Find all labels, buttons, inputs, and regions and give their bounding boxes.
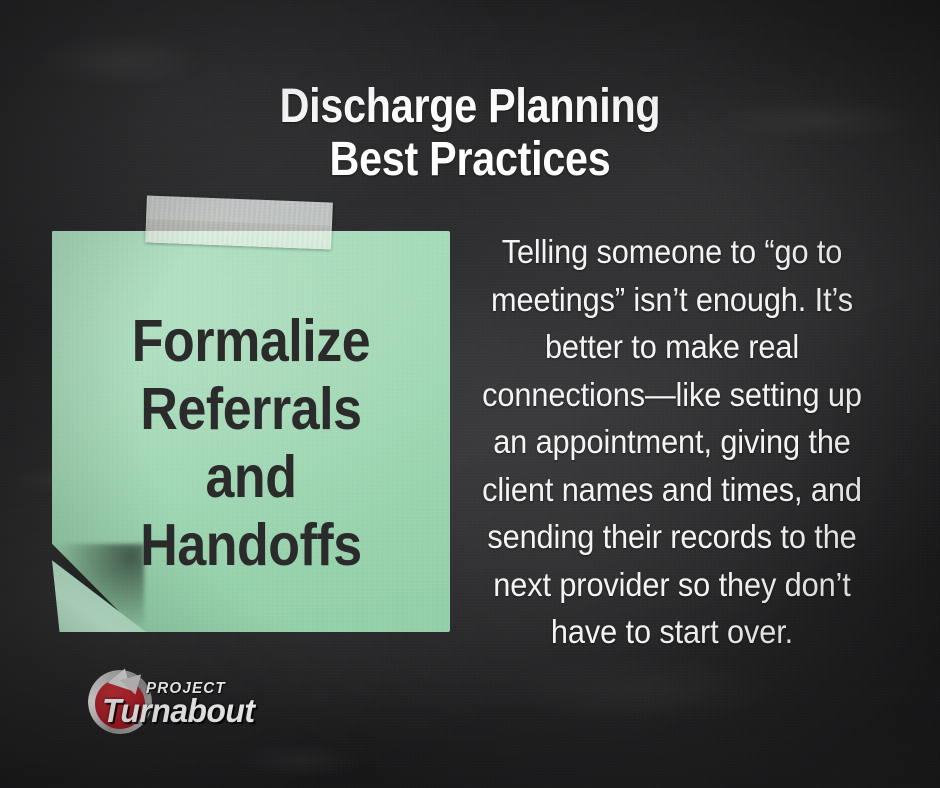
logo-word-turnabout: Turnabout xyxy=(102,692,254,730)
poster-canvas: Discharge Planning Best Practices Formal… xyxy=(0,0,940,788)
masking-tape-icon xyxy=(145,195,333,249)
sticky-note-heading-line-3: and xyxy=(86,443,415,511)
body-paragraph: Telling someone to “go to meetings” isn’… xyxy=(480,228,863,656)
page-title: Discharge Planning Best Practices xyxy=(66,80,874,186)
masking-tape-texture xyxy=(145,195,333,249)
logo-wordmark: PROJECT Turnabout xyxy=(102,678,270,732)
sticky-note-heading: Formalize Referrals and Handoffs xyxy=(86,307,415,579)
sticky-note-heading-line-1: Formalize xyxy=(86,307,415,375)
sticky-note-heading-line-2: Referrals xyxy=(86,375,415,443)
page-title-line-2: Best Practices xyxy=(66,133,874,186)
sticky-note-heading-line-4: Handoffs xyxy=(86,511,415,579)
page-title-line-1: Discharge Planning xyxy=(66,80,874,133)
sticky-note: Formalize Referrals and Handoffs xyxy=(52,231,450,632)
project-turnabout-logo: PROJECT Turnabout xyxy=(88,668,264,736)
